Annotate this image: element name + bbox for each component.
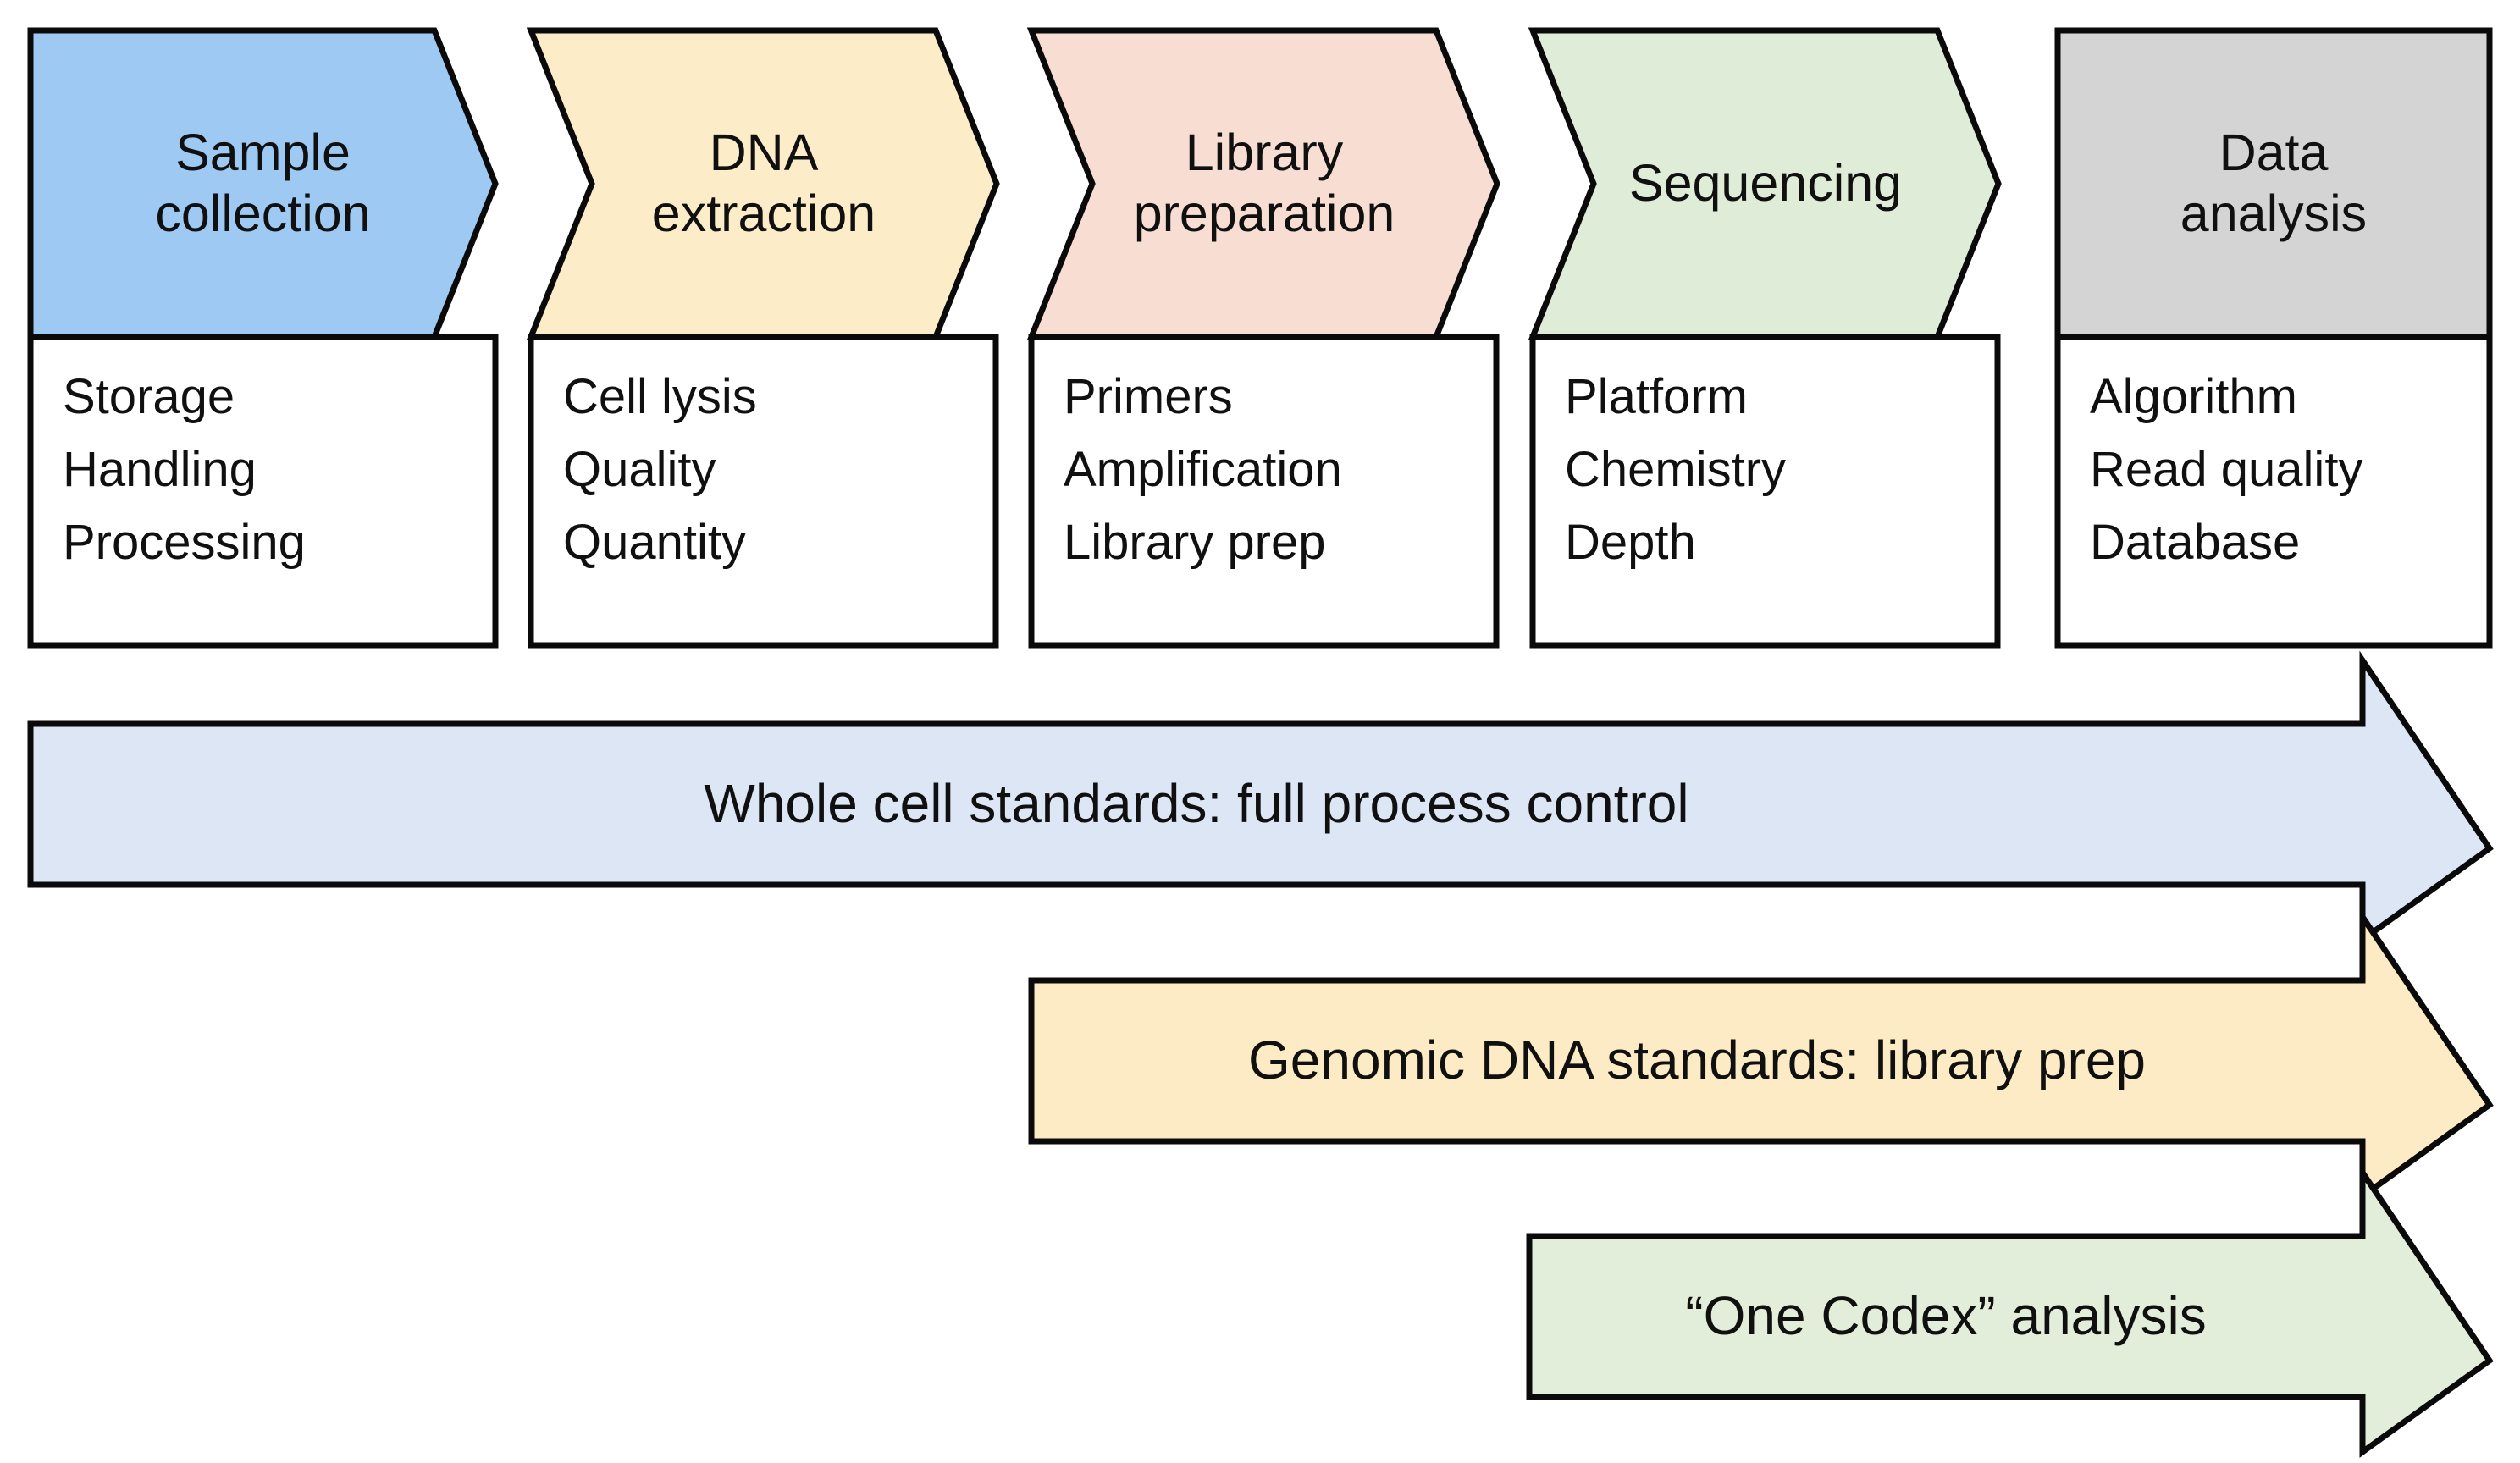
detail-item: Algorithm (2090, 373, 2297, 422)
stage-chevron-dna-extraction[interactable] (531, 30, 997, 337)
detail-item: Cell lysis (563, 373, 757, 422)
detail-item: Library prep (1064, 518, 1325, 567)
stage-chevron-library-preparation[interactable] (1031, 30, 1497, 337)
detail-item: Platform (1565, 373, 1748, 422)
detail-item: Amplification (1064, 445, 1342, 494)
coverage-band-genomic-dna-standards[interactable] (1031, 917, 2490, 1196)
detail-item: Depth (1565, 518, 1696, 567)
detail-item: Handling (63, 445, 257, 494)
stage-details-sample-collection: Storage Handling Processing (63, 373, 486, 591)
detail-item: Processing (63, 518, 306, 567)
detail-item: Database (2090, 518, 2300, 567)
coverage-band-whole-cell-standards[interactable] (30, 660, 2490, 940)
stage-chevron-sample-collection[interactable] (30, 30, 495, 337)
detail-item: Quality (563, 445, 716, 494)
diagram-shapes (0, 0, 2520, 1463)
stage-details-library-preparation: Primers Amplification Library prep (1064, 373, 1487, 591)
stage-details-dna-extraction: Cell lysis Quality Quantity (563, 373, 986, 591)
diagram-canvas: Sample collection DNA extraction Library… (0, 0, 2520, 1463)
stage-details-data-analysis: Algorithm Read quality Database (2090, 373, 2496, 591)
stage-details-sequencing: Platform Chemistry Depth (1565, 373, 1988, 591)
detail-item: Chemistry (1565, 445, 1786, 494)
detail-item: Primers (1064, 373, 1233, 422)
detail-item: Storage (63, 373, 235, 422)
detail-item: Read quality (2090, 445, 2362, 494)
stage-chevron-data-analysis[interactable] (2058, 30, 2490, 337)
stage-chevron-sequencing[interactable] (1533, 30, 1998, 337)
coverage-band-one-codex-analysis[interactable] (1529, 1173, 2490, 1452)
detail-item: Quantity (563, 518, 746, 567)
